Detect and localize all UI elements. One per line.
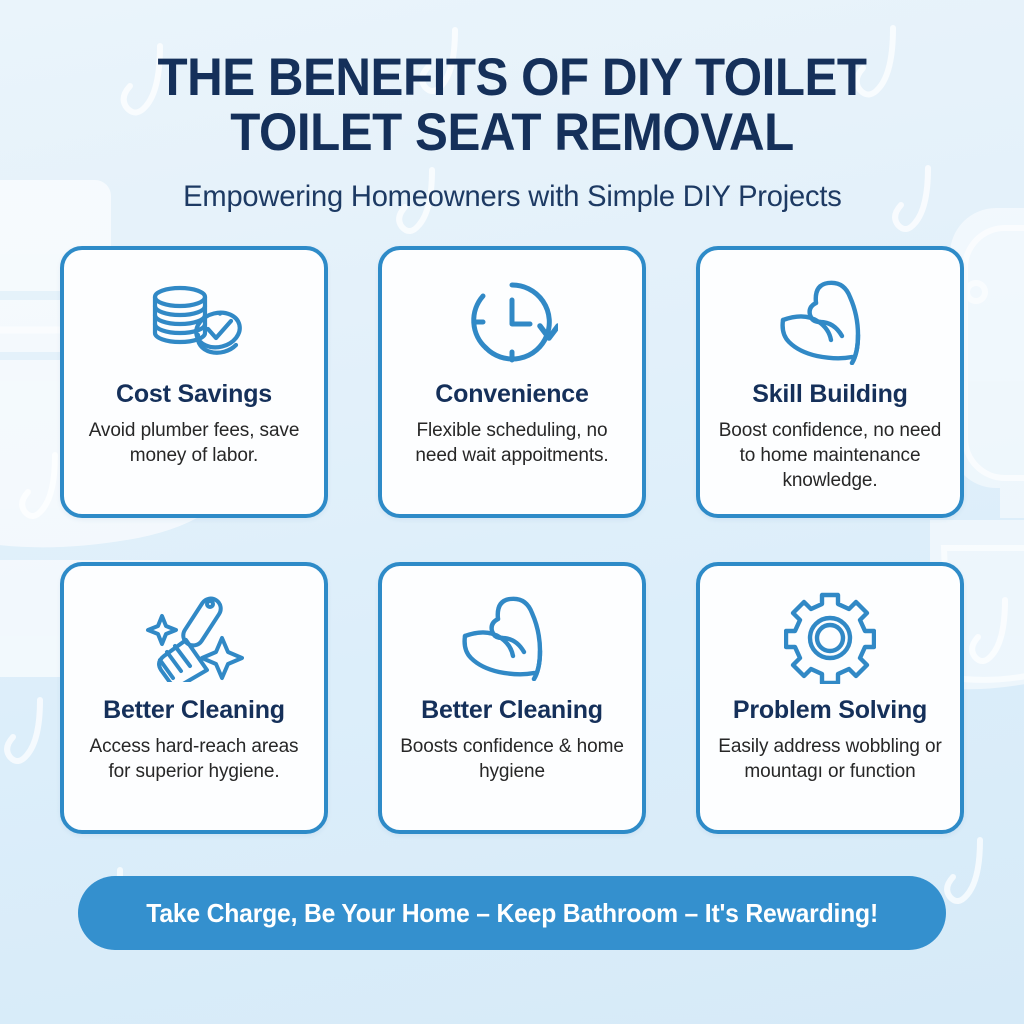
card-title: Cost Savings [116,380,272,409]
infographic-page: THE BENEFITS OF DIY TOILET TOILET SEAT R… [0,0,1024,1024]
card-description: Boost confidence, no need to home mainte… [716,418,944,493]
page-subtitle: Empowering Homeowners with Simple DIY Pr… [183,180,841,214]
cleaning-brush-sparkle-icon [144,590,244,686]
card-title: Problem Solving [733,696,927,725]
card-title: Skill Building [752,380,908,409]
benefit-card-convenience[interactable]: Convenience Flexible scheduling, no need… [378,246,646,518]
benefit-card-problem-solving[interactable]: Problem Solving Easily address wobbling … [696,562,964,834]
benefit-card-better-cleaning[interactable]: Better Cleaning Access hard-reach areas … [60,562,328,834]
clock-arrow-icon [466,274,558,370]
flexed-bicep-icon [780,274,880,370]
benefit-card-skill-building[interactable]: Skill Building Boost confidence, no need… [696,246,964,518]
card-title: Convenience [435,380,588,409]
gear-icon [784,590,876,686]
page-title: THE BENEFITS OF DIY TOILET TOILET SEAT R… [103,50,921,160]
title-line-1: THE BENEFITS OF DIY TOILET [157,48,866,107]
call-to-action-banner[interactable]: Take Charge, Be Your Home – Keep Bathroo… [78,876,946,950]
card-description: Boosts confidence & home hygiene [398,734,626,784]
banner-text: Take Charge, Be Your Home – Keep Bathroo… [146,898,878,929]
coins-stack-check-icon [144,274,244,370]
benefits-grid: Cost Savings Avoid plumber fees, save mo… [60,246,965,834]
benefit-card-better-cleaning-2[interactable]: Better Cleaning Boosts confidence & home… [378,562,646,834]
benefit-card-cost-savings[interactable]: Cost Savings Avoid plumber fees, save mo… [60,246,328,518]
card-description: Easily address wobbling or mountagı or f… [716,734,944,784]
card-title: Better Cleaning [103,696,285,725]
title-line-2: TOILET SEAT REMOVAL [230,103,793,162]
card-title: Better Cleaning [421,696,603,725]
card-description: Access hard-reach areas for superior hyg… [80,734,308,784]
card-description: Avoid plumber fees, save money of labor. [80,418,308,468]
flexed-bicep-icon [462,590,562,686]
card-description: Flexible scheduling, no need wait appoit… [398,418,626,468]
